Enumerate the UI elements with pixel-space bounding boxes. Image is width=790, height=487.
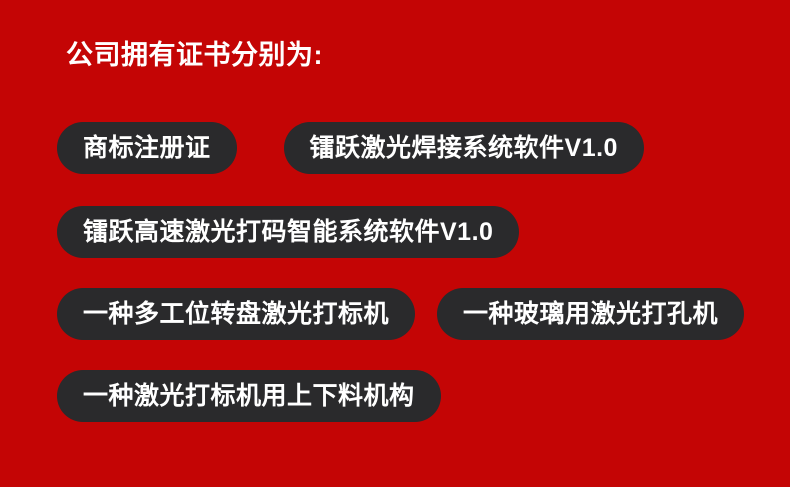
- certificate-row-3: 一种多工位转盘激光打标机 一种玻璃用激光打孔机: [57, 288, 744, 340]
- certificate-row-1: 商标注册证 镭跃激光焊接系统软件V1.0: [57, 122, 644, 174]
- certificate-label: 一种玻璃用激光打孔机: [463, 288, 718, 340]
- certificate-label: 商标注册证: [83, 122, 211, 174]
- certificate-pill-rotary-marking-machine[interactable]: 一种多工位转盘激光打标机: [57, 288, 415, 340]
- certificates-poster: 公司拥有证书分别为: 商标注册证 镭跃激光焊接系统软件V1.0 镭跃高速激光打码…: [0, 0, 790, 487]
- certificate-pill-welding-software[interactable]: 镭跃激光焊接系统软件V1.0: [284, 122, 644, 174]
- certificate-row-4: 一种激光打标机用上下料机构: [57, 370, 441, 422]
- certificate-row-2: 镭跃高速激光打码智能系统软件V1.0: [57, 206, 519, 258]
- page-title: 公司拥有证书分别为:: [66, 38, 323, 72]
- certificate-label: 一种激光打标机用上下料机构: [83, 370, 415, 422]
- certificate-pill-glass-drilling-machine[interactable]: 一种玻璃用激光打孔机: [437, 288, 744, 340]
- certificate-pill-loading-mechanism[interactable]: 一种激光打标机用上下料机构: [57, 370, 441, 422]
- certificate-label: 镭跃激光焊接系统软件V1.0: [310, 122, 618, 174]
- certificate-label: 一种多工位转盘激光打标机: [83, 288, 389, 340]
- certificate-label: 镭跃高速激光打码智能系统软件V1.0: [83, 206, 493, 258]
- certificate-pill-trademark[interactable]: 商标注册证: [57, 122, 237, 174]
- certificate-pill-coding-software[interactable]: 镭跃高速激光打码智能系统软件V1.0: [57, 206, 519, 258]
